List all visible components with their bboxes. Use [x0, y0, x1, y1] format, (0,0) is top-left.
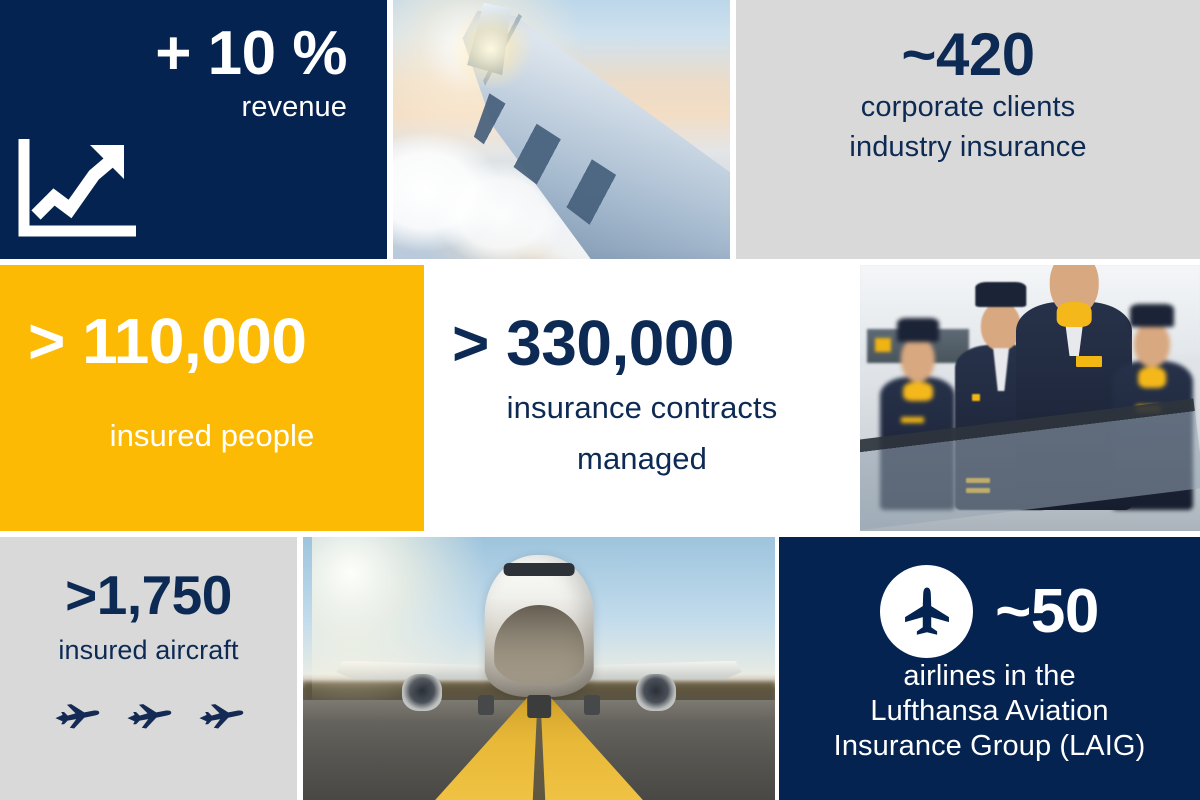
photo-airplane-wing	[393, 0, 730, 259]
revenue-text-block: + 10 % revenue	[40, 22, 347, 125]
pilot-head	[981, 302, 1021, 351]
runway-sun-flare	[312, 537, 529, 700]
people-value: > 110,000	[28, 309, 396, 374]
attendant-badge	[1076, 356, 1101, 366]
stat-card-revenue: + 10 % revenue	[0, 0, 387, 259]
infographic-board: + 10 % revenue ~420 corporate clients in…	[0, 0, 1200, 800]
crew-head	[901, 337, 935, 382]
contracts-value: > 330,000	[452, 311, 832, 376]
people-label: insured people	[28, 418, 396, 454]
stat-card-insured-aircraft: >1,750 insured aircraft	[0, 537, 297, 800]
airplane-icon	[198, 702, 244, 732]
nose-landing-gear	[527, 695, 551, 719]
pilot-shirt	[985, 348, 1018, 391]
airlines-label-line3: Insurance Group (LAIG)	[834, 729, 1146, 764]
stat-card-insurance-contracts: > 330,000 insurance contracts managed	[430, 265, 854, 531]
jet-engine-right	[636, 674, 676, 711]
contracts-label-line1: insurance contracts	[452, 390, 832, 426]
contracts-text-block: > 330,000 insurance contracts managed	[452, 311, 832, 477]
revenue-value: + 10 %	[155, 22, 347, 85]
airplane-circle-icon	[880, 565, 973, 658]
people-text-block: > 110,000 insured people	[28, 309, 396, 455]
aircraft-text-block: >1,750 insured aircraft	[14, 567, 283, 667]
crew-hat	[897, 318, 939, 342]
clients-value: ~420	[901, 24, 1034, 85]
airlines-label-line1: airlines in the	[903, 659, 1075, 694]
crew-hat-right	[1130, 304, 1174, 326]
stat-card-insured-people: > 110,000 insured people	[0, 265, 424, 531]
clients-label-line1: corporate clients	[861, 91, 1075, 125]
crew-badge	[901, 417, 923, 424]
stat-card-corporate-clients: ~420 corporate clients industry insuranc…	[736, 0, 1200, 259]
photo-flight-crew	[860, 265, 1200, 531]
crew-scarf-right	[1139, 367, 1167, 388]
aircraft-value: >1,750	[65, 567, 232, 623]
airlines-text-block: airlines in the Lufthansa Aviation Insur…	[793, 659, 1186, 763]
airplane-icon	[126, 702, 172, 732]
photo-airplane-runway	[303, 537, 775, 800]
crew-scarf	[903, 382, 933, 401]
aircraft-icon-row	[0, 702, 297, 732]
revenue-label: revenue	[242, 91, 348, 125]
pilot-cap	[975, 282, 1026, 307]
aircraft-label: insured aircraft	[58, 635, 238, 667]
contracts-label-line2: managed	[452, 441, 832, 477]
clients-label-line2: industry insurance	[849, 131, 1086, 165]
airlines-value: ~50	[995, 580, 1099, 643]
main-gear-right	[584, 695, 600, 715]
pilot-badge	[972, 394, 980, 401]
sun-flare	[447, 10, 535, 88]
stat-card-airlines: ~50 airlines in the Lufthansa Aviation I…	[779, 537, 1200, 800]
crew-head-right	[1134, 322, 1170, 367]
clients-text-block: ~420 corporate clients industry insuranc…	[756, 24, 1180, 165]
airlines-headline-row: ~50	[779, 565, 1200, 658]
growth-chart-icon	[16, 139, 136, 239]
attendant-scarf	[1057, 302, 1092, 327]
airlines-label-line2: Lufthansa Aviation	[870, 694, 1108, 729]
airplane-icon	[54, 702, 100, 732]
